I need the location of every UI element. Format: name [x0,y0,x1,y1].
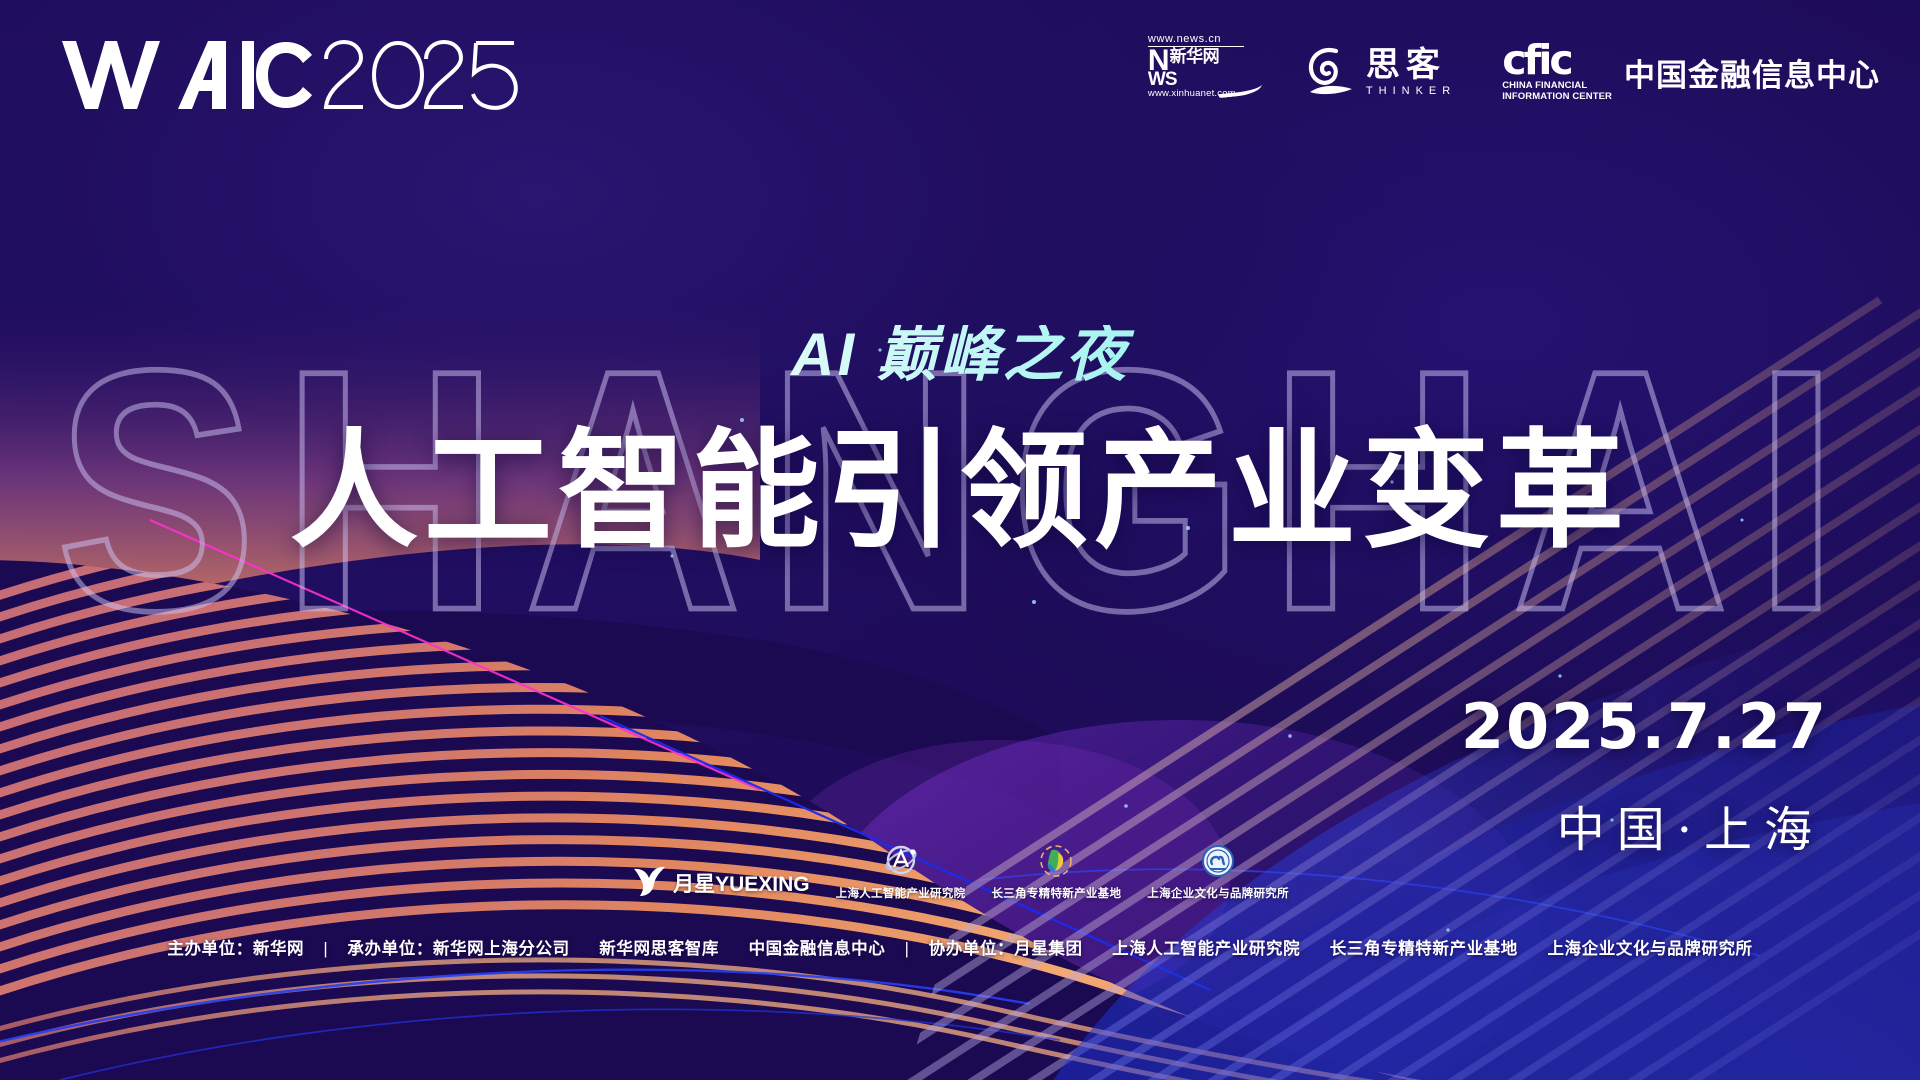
cfic-cn-name: 中国金融信息中心 [1624,50,1880,95]
cfic-en-line1: CHINA FINANCIAL [1502,80,1612,91]
sponsor-saiir-label: 上海人工智能产业研究院 [836,885,966,901]
logo-xinhuanet: www.news.cn N 新华网 WS www.xinhuanet.com [1148,33,1260,111]
thinker-cn-name: 思客 [1366,48,1456,82]
footer-organizer-1: 承办单位：新华网上海分公司 [347,940,569,958]
footer-coorganizer-3: 长三角专精特新产业基地 [1330,940,1518,958]
sponsor-culture-brand-label: 上海企业文化与品牌研究所 [1147,885,1289,901]
sponsor-logo-row: 月星YUEXING 上海人工智能产业研究院 长三角专精特新产业基地 [0,842,1920,901]
sponsor-culture-brand: 上海企业文化与品牌研究所 [1147,842,1289,901]
logo-thinker: 思客 THINKER [1306,45,1456,99]
sponsor-yuexing: 月星YUEXING [631,864,810,901]
sponsor-yangtze-delta-label: 长三角专精特新产业基地 [991,885,1121,901]
event-date: 2025.7.27 [1461,690,1828,763]
culture-brand-seal-icon [1198,842,1238,882]
footer-separator-1: | [309,940,342,958]
header-logo-group: www.news.cn N 新华网 WS www.xinhuanet.com [1148,32,1880,112]
yangtze-delta-icon [1036,842,1076,882]
saiir-atom-icon [881,842,921,882]
poster-canvas: SHANGHAI [0,0,1920,1080]
footer-coorganizer-2: 上海人工智能产业研究院 [1112,940,1300,958]
footer-separator-2: | [891,940,924,958]
cfic-abbr: cfic [1502,42,1612,80]
header-bar: www.news.cn N 新华网 WS www.xinhuanet.com [0,0,1920,140]
sponsor-saiir: 上海人工智能产业研究院 [836,842,966,901]
event-subtitle: AI 巅峰之夜 [0,325,1920,385]
thinker-en-name: THINKER [1366,85,1456,97]
waic-logo [60,34,538,112]
event-headline: 人工智能引领产业变革 [0,420,1920,563]
footer-coorganizer-4: 上海企业文化与品牌研究所 [1547,940,1752,958]
sponsor-yangtze-delta: 长三角专精特新产业基地 [991,842,1121,901]
sponsor-yuexing-label: 月星YUEXING [673,868,810,898]
footer-organizer-3: 中国金融信息中心 [749,940,886,958]
yuexing-star-icon [631,864,667,898]
footer-credits: 主办单位：新华网 | 承办单位：新华网上海分公司 新华网思客智库 中国金融信息中… [0,935,1920,959]
xinhuanet-cn-name: 新华网 [1170,48,1220,65]
waic-logo-five [468,33,538,113]
cfic-en-line2: INFORMATION CENTER [1502,91,1612,102]
thinker-spiral-icon [1306,45,1358,99]
footer-host: 主办单位：新华网 [167,940,304,958]
logo-cfic: cfic CHINA FINANCIAL INFORMATION CENTER … [1502,42,1880,102]
waic-logo-mark [60,33,480,113]
footer-organizer-2: 新华网思客智库 [599,940,719,958]
footer-coorganizer-1: 协办单位：月星集团 [929,940,1083,958]
